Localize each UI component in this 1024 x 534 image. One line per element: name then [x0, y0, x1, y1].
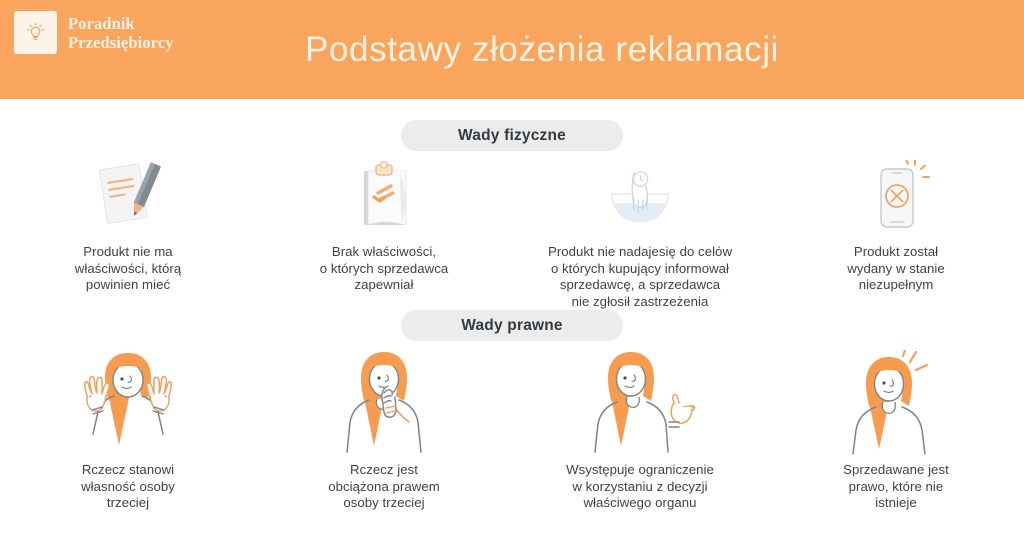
woman-idea-icon — [821, 348, 971, 456]
brand-logo[interactable]: Poradnik Przedsiębiorcy — [14, 11, 174, 54]
woman-raised-hand-icon — [565, 348, 715, 456]
hand-in-water-bowl-icon — [590, 158, 690, 236]
brand-name-line2: Przedsiębiorcy — [68, 33, 174, 52]
smartphone-error-icon — [850, 158, 942, 236]
woman-thinking-icon — [314, 348, 454, 456]
item-woman-shrugging: Rczecz stanowi własność osoby trzeciej — [0, 348, 256, 512]
item-caption: Sprzedawane jest prawo, które nie istnie… — [843, 462, 949, 512]
item-caption: Produkt nie nadajesię do celów o których… — [548, 244, 732, 310]
item-caption: Rczecz jest obciążona prawem osoby trzec… — [328, 462, 440, 512]
section-header-wady-fizyczne: Wady fizyczne — [401, 120, 623, 151]
header-bar: Poradnik Przedsiębiorcy Podstawy złożeni… — [0, 0, 1024, 99]
section-wady-prawne-items: Rczecz stanowi własność osoby trzeciej — [0, 348, 1024, 512]
brand-name: Poradnik Przedsiębiorcy — [68, 14, 174, 52]
item-woman-thinking: Rczecz jest obciążona prawem osoby trzec… — [256, 348, 512, 512]
item-caption: Produkt został wydany w stanie niezupełn… — [847, 244, 945, 294]
item-document-pencil: Produkt nie ma właściwości, którą powini… — [0, 158, 256, 310]
document-pencil-icon — [82, 158, 174, 236]
section-wady-fizyczne-items: Produkt nie ma właściwości, którą powini… — [0, 158, 1024, 310]
item-caption: Produkt nie ma właściwości, którą powini… — [75, 244, 181, 294]
item-caption: Brak właściwości, o których sprzedawca z… — [320, 244, 449, 294]
item-woman-idea: Sprzedawane jest prawo, które nie istnie… — [768, 348, 1024, 512]
lightbulb-icon — [14, 11, 57, 54]
item-caption: Rczecz stanowi własność osoby trzeciej — [81, 462, 175, 512]
item-woman-raised-hand: Wsystępuje ograniczenie w korzystaniu z … — [512, 348, 768, 512]
item-smartphone-error: Produkt został wydany w stanie niezupełn… — [768, 158, 1024, 310]
item-hand-in-water-bowl: Produkt nie nadajesię do celów o których… — [512, 158, 768, 310]
clipboard-curled-page-icon — [338, 158, 430, 236]
item-caption: Wsystępuje ograniczenie w korzystaniu z … — [566, 462, 714, 512]
infographic-root: Poradnik Przedsiębiorcy Podstawy złożeni… — [0, 0, 1024, 534]
woman-shrugging-icon — [58, 348, 198, 456]
brand-name-line1: Poradnik — [68, 14, 135, 33]
item-clipboard-curled-page: Brak właściwości, o których sprzedawca z… — [256, 158, 512, 310]
section-header-wady-prawne: Wady prawne — [401, 310, 623, 341]
